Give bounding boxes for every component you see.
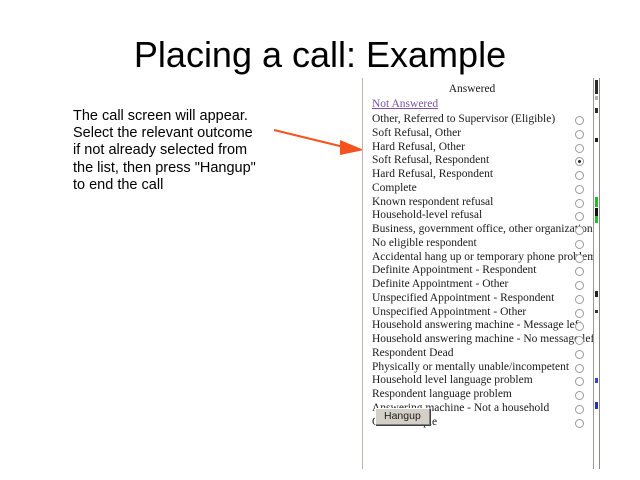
annotation-line: the list, then press "Hangup" xyxy=(73,160,283,177)
callout-arrow-icon xyxy=(272,122,368,164)
outcome-option-label: Respondent language problem xyxy=(372,388,512,401)
outcome-option-label: Respondent Dead xyxy=(372,347,453,360)
outcome-option-row[interactable]: Complete xyxy=(363,182,596,196)
outcome-option-row[interactable]: Respondent language problem xyxy=(363,388,596,402)
outcome-option-row[interactable]: Business, government office, other organ… xyxy=(363,223,596,237)
annotation-textbox: The call screen will appear. Select the … xyxy=(73,108,283,194)
outcome-option-label: Household answering machine - No message… xyxy=(372,333,597,346)
edge-artifact xyxy=(595,216,598,223)
outcome-option-label: Soft Refusal, Other xyxy=(372,127,461,140)
outcome-option-row[interactable]: Definite Appointment - Respondent xyxy=(363,264,596,278)
outcome-option-row[interactable]: Hard Refusal, Other xyxy=(363,141,596,155)
outcome-option-radio[interactable] xyxy=(575,130,584,139)
outcome-option-radio[interactable] xyxy=(575,185,584,194)
edge-artifact xyxy=(595,108,598,113)
outcome-option-radio[interactable] xyxy=(575,391,584,400)
outcome-option-row[interactable]: Household answering machine - No message… xyxy=(363,333,596,347)
embedded-screenshot: Answered Not Answered Other, Referred to… xyxy=(362,78,600,469)
outcome-option-row[interactable]: Household answering machine - Message le… xyxy=(363,319,596,333)
outcome-option-label: Known respondent refusal xyxy=(372,196,493,209)
outcome-option-list: Other, Referred to Supervisor (Eligible)… xyxy=(363,113,596,429)
outcome-option-radio[interactable] xyxy=(575,144,584,153)
outcome-option-radio[interactable] xyxy=(575,419,584,428)
annotation-line: Select the relevant outcome xyxy=(73,125,283,142)
edge-artifact xyxy=(595,80,598,94)
outcome-option-label: Hard Refusal, Respondent xyxy=(372,168,493,181)
not-answered-link[interactable]: Not Answered xyxy=(372,98,438,110)
outcome-option-radio[interactable] xyxy=(575,226,584,235)
outcome-option-label: Accidental hang up or temporary phone pr… xyxy=(372,251,596,264)
outcome-option-radio[interactable] xyxy=(575,377,584,386)
outcome-option-label: Business, government office, other organ… xyxy=(372,223,593,236)
outcome-option-row[interactable]: No eligible respondent xyxy=(363,237,596,251)
outcome-option-row[interactable]: Known respondent refusal xyxy=(363,196,596,210)
outcome-option-row[interactable]: Soft Refusal, Respondent xyxy=(363,154,596,168)
outcome-option-radio[interactable] xyxy=(575,199,584,208)
edge-artifact xyxy=(595,310,598,313)
edge-artifact xyxy=(595,138,598,142)
outcome-option-radio[interactable] xyxy=(575,364,584,373)
outcome-option-radio[interactable] xyxy=(575,240,584,249)
outcome-option-label: Unspecified Appointment - Other xyxy=(372,306,526,319)
outcome-option-radio[interactable] xyxy=(575,116,584,125)
answered-heading: Answered xyxy=(363,83,581,95)
outcome-option-radio[interactable] xyxy=(575,254,584,263)
outcome-option-row[interactable]: Unspecified Appointment - Respondent xyxy=(363,292,596,306)
outcome-option-radio[interactable] xyxy=(575,171,584,180)
outcome-option-row[interactable]: Soft Refusal, Other xyxy=(363,127,596,141)
outcome-option-label: Unspecified Appointment - Respondent xyxy=(372,292,554,305)
outcome-option-row[interactable]: Household level language problem xyxy=(363,374,596,388)
outcome-option-row[interactable]: Accidental hang up or temporary phone pr… xyxy=(363,251,596,265)
annotation-line: to end the call xyxy=(73,177,283,194)
outcome-option-row[interactable]: Physically or mentally unable/incompeten… xyxy=(363,361,596,375)
outcome-option-row[interactable]: Hard Refusal, Respondent xyxy=(363,168,596,182)
outcome-option-radio[interactable] xyxy=(575,267,584,276)
outcome-option-row[interactable]: Definite Appointment - Other xyxy=(363,278,596,292)
annotation-line: if not already selected from xyxy=(73,142,283,159)
outcome-option-label: Other, Referred to Supervisor (Eligible) xyxy=(372,113,555,126)
hangup-button[interactable]: Hangup xyxy=(375,408,430,425)
outcome-option-radio[interactable] xyxy=(575,322,584,331)
outcome-option-row[interactable]: Household-level refusal xyxy=(363,209,596,223)
outcome-option-radio[interactable] xyxy=(575,350,584,359)
outcome-option-label: Definite Appointment - Respondent xyxy=(372,264,537,277)
edge-artifact xyxy=(595,378,598,383)
outcome-option-label: No eligible respondent xyxy=(372,237,477,250)
outcome-option-radio[interactable] xyxy=(575,405,584,414)
edge-artifact xyxy=(595,208,598,216)
outcome-option-label: Hard Refusal, Other xyxy=(372,141,465,154)
outcome-option-radio[interactable] xyxy=(575,336,584,345)
annotation-line: The call screen will appear. xyxy=(73,108,283,125)
outcome-option-row[interactable]: Other, Referred to Supervisor (Eligible) xyxy=(363,113,596,127)
outcome-option-row[interactable]: Unspecified Appointment - Other xyxy=(363,306,596,320)
edge-artifact xyxy=(595,96,598,100)
outcome-option-label: Definite Appointment - Other xyxy=(372,278,508,291)
panel-edge-sliver xyxy=(593,78,599,469)
outcome-option-radio[interactable] xyxy=(575,157,584,166)
outcome-option-radio[interactable] xyxy=(575,309,584,318)
outcome-option-label: Complete xyxy=(372,182,417,195)
outcome-option-label: Household level language problem xyxy=(372,374,533,387)
outcome-option-label: Household answering machine - Message le… xyxy=(372,319,582,332)
outcome-option-label: Household-level refusal xyxy=(372,209,482,222)
outcome-option-label: Physically or mentally unable/incompeten… xyxy=(372,361,569,374)
outcome-option-label: Soft Refusal, Respondent xyxy=(372,154,489,167)
outcome-option-radio[interactable] xyxy=(575,212,584,221)
edge-artifact xyxy=(595,291,598,297)
page-title: Placing a call: Example xyxy=(0,34,640,76)
outcome-option-row[interactable]: Respondent Dead xyxy=(363,347,596,361)
outcome-option-radio[interactable] xyxy=(575,281,584,290)
call-outcome-form: Answered Not Answered Other, Referred to… xyxy=(363,78,596,469)
outcome-option-radio[interactable] xyxy=(575,295,584,304)
edge-artifact xyxy=(595,402,598,409)
edge-artifact xyxy=(595,197,598,207)
